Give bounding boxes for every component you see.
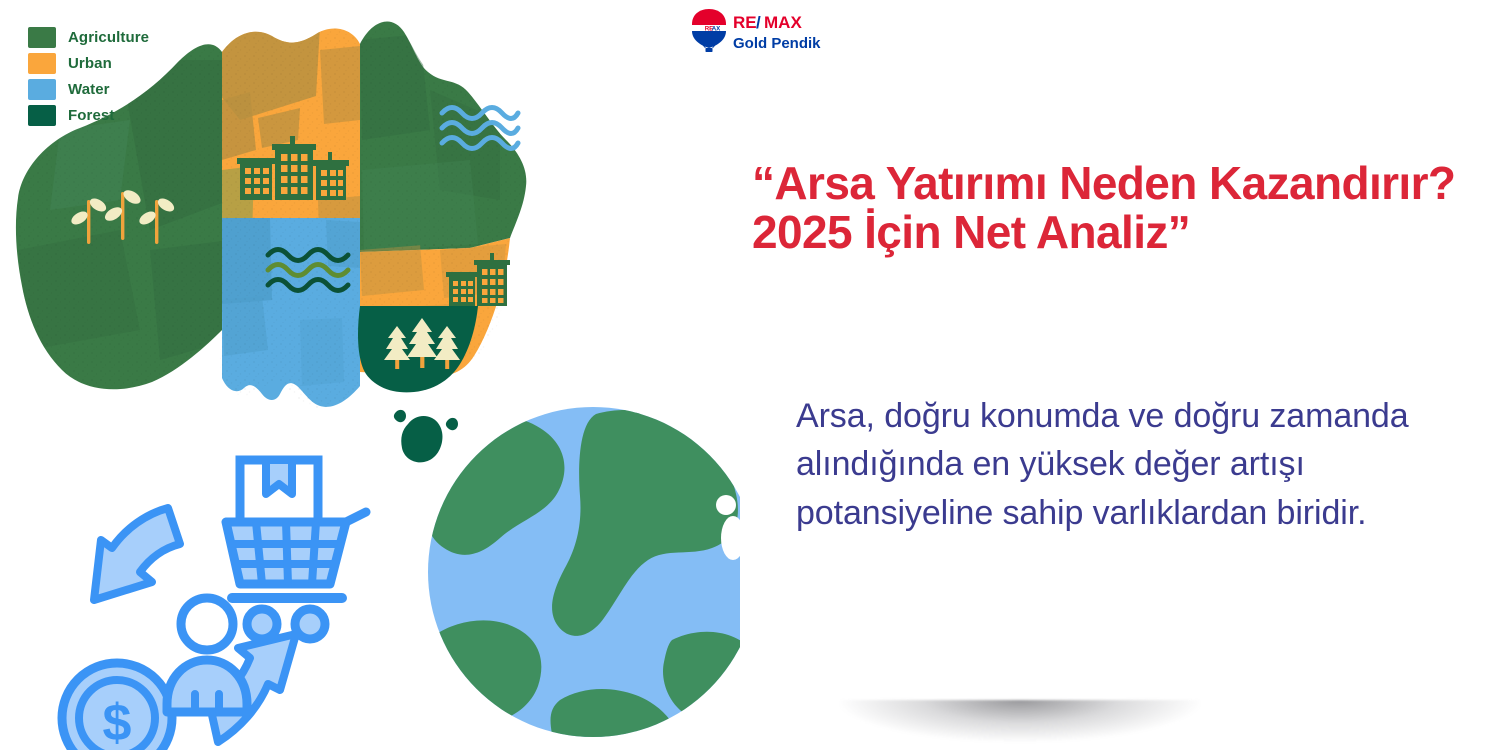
page-title: “Arsa Yatırımı Neden Kazandırır? 2025 İç… (752, 159, 1492, 258)
remax-wordmark-re: RE (733, 13, 757, 32)
legend-swatch-forest (28, 105, 56, 126)
remax-wordmark-slash: / (756, 13, 761, 32)
earth-globe-illustration (417, 407, 740, 750)
map-region-south-australia[interactable] (200, 200, 380, 420)
arrow-curve-left-icon (94, 508, 180, 600)
dollar-coin-icon: $ (62, 663, 172, 750)
remax-wordmark-max: MAX (764, 13, 802, 32)
remax-gold-pendik-logo[interactable]: RE AX RE / MAX Gold Pendik (688, 8, 838, 56)
legend-item-forest[interactable]: Forest (28, 102, 149, 128)
map-legend: Agriculture Urban Water Forest (28, 24, 149, 128)
remax-balloon-icon: RE AX (692, 9, 726, 52)
svg-text:$: $ (103, 694, 132, 750)
legend-item-water[interactable]: Water (28, 76, 149, 102)
map-region-tasmania[interactable] (394, 410, 458, 462)
remax-office-name: Gold Pendik (733, 35, 821, 52)
legend-swatch-water (28, 79, 56, 100)
legend-label-forest: Forest (68, 107, 114, 124)
legend-label-agriculture: Agriculture (68, 29, 149, 46)
content-panel: RE AX RE / MAX Gold Pendik “Arsa Yatırım… (748, 0, 1500, 750)
poster-canvas: $ (0, 0, 1500, 750)
body-paragraph: Arsa, doğru konumda ve doğru zamanda alı… (796, 392, 1476, 537)
legend-swatch-urban (28, 53, 56, 74)
svg-text:AX: AX (712, 26, 721, 33)
ecommerce-cycle-illustration: $ (62, 460, 366, 750)
customer-person-icon (167, 598, 247, 712)
map-illustration-panel: $ (0, 0, 740, 750)
legend-swatch-agriculture (28, 27, 56, 48)
map-region-queensland[interactable] (340, 0, 560, 270)
legend-label-urban: Urban (68, 55, 112, 72)
legend-item-agriculture[interactable]: Agriculture (28, 24, 149, 50)
legend-label-water: Water (68, 81, 110, 98)
shopping-cart-icon (226, 460, 366, 639)
legend-item-urban[interactable]: Urban (28, 50, 149, 76)
